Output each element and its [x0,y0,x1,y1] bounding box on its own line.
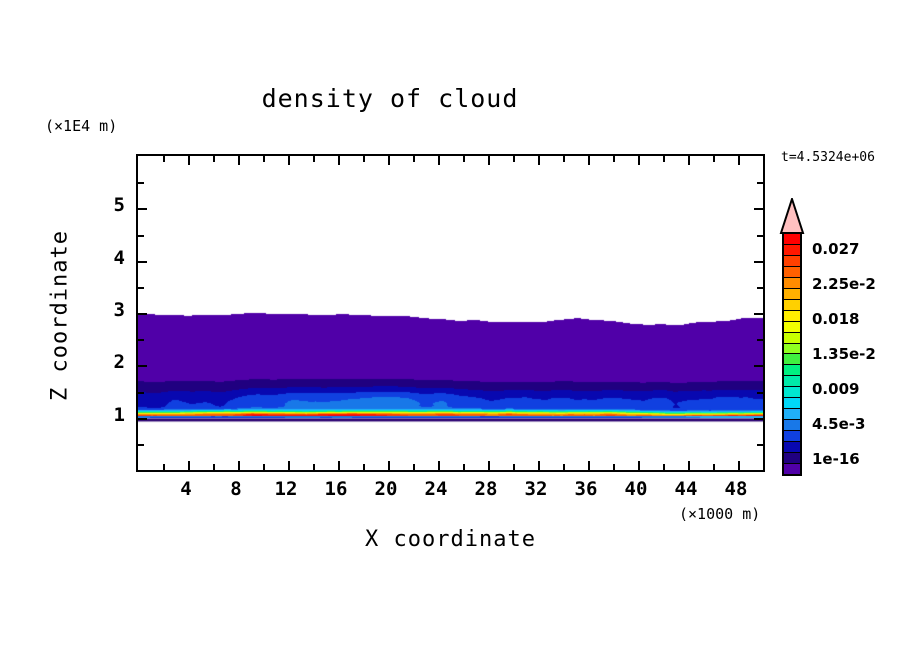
x-axis-minor-tick-top [413,156,415,162]
x-axis-minor-tick [413,464,415,470]
colorbar-segment [784,409,800,420]
x-axis-major-tick-top [288,156,290,165]
x-axis-major-tick [588,461,590,470]
x-axis-major-tick-top [688,156,690,165]
colorbar-segment [784,431,800,442]
y-tick-label: 4 [97,247,125,269]
y-axis-minor-tick-right [757,235,763,237]
x-tick-label: 16 [311,478,361,500]
colorbar-segment [784,267,800,278]
x-axis-minor-tick [163,464,165,470]
x-axis-minor-tick-top [713,156,715,162]
y-tick-label: 1 [97,404,125,426]
y-axis-major-tick-right [754,313,763,315]
y-axis-minor-tick-right [757,182,763,184]
y-axis-major-tick-right [754,365,763,367]
y-axis-major-tick [138,418,147,420]
colorbar-segment [784,234,800,245]
y-tick-label: 2 [97,351,125,373]
colorbar-segment [784,344,800,355]
colorbar-segment [784,300,800,311]
y-axis-minor-tick [138,444,144,446]
x-tick-label: 20 [361,478,411,500]
colorbar-segment [784,278,800,289]
x-axis-minor-tick [613,464,615,470]
x-tick-label: 32 [511,478,561,500]
x-axis-major-tick [288,461,290,470]
colorbar-tick-label: 4.5e-3 [812,415,865,433]
colorbar-segment [784,322,800,333]
x-axis-minor-tick-top [263,156,265,162]
colorbar-segment [784,365,800,376]
x-axis-major-tick [438,461,440,470]
x-axis-minor-tick-top [663,156,665,162]
y-axis-major-tick [138,261,147,263]
colorbar-segment [784,289,800,300]
x-axis-minor-tick [513,464,515,470]
y-axis-minor-tick-right [757,339,763,341]
plot-area [136,154,765,472]
y-axis-minor-tick [138,287,144,289]
colorbar-tick-label: 2.25e-2 [812,275,876,293]
colorbar-segment [784,311,800,322]
x-axis-minor-tick [763,464,765,470]
y-axis-unit-label: (×1E4 m) [45,117,117,135]
x-axis-major-tick [488,461,490,470]
x-axis-unit-label: (×1000 m) [679,505,760,523]
colorbar-segment [784,398,800,409]
x-axis-major-tick [188,461,190,470]
y-axis-minor-tick-right [757,392,763,394]
colorbar-tick-label: 0.009 [812,380,859,398]
x-axis-minor-tick-top [463,156,465,162]
x-axis-major-tick [388,461,390,470]
x-axis-major-tick-top [338,156,340,165]
colorbar-segment [784,464,800,474]
x-axis-major-tick-top [488,156,490,165]
y-axis-major-tick [138,313,147,315]
x-axis-title: X coordinate [136,527,765,552]
y-axis-minor-tick [138,339,144,341]
colorbar-segment [784,256,800,267]
x-axis-minor-tick-top [613,156,615,162]
x-axis-major-tick-top [638,156,640,165]
x-axis-major-tick-top [588,156,590,165]
x-axis-minor-tick [263,464,265,470]
x-axis-major-tick-top [238,156,240,165]
y-axis-major-tick-right [754,261,763,263]
page-title: density of cloud [0,84,780,113]
x-axis-minor-tick [363,464,365,470]
time-annotation: t=4.5324e+06 [781,150,875,165]
x-tick-label: 28 [461,478,511,500]
contour-field [138,156,763,470]
y-axis-major-tick [138,208,147,210]
x-axis-minor-tick [563,464,565,470]
y-tick-label: 3 [97,299,125,321]
x-axis-major-tick-top [538,156,540,165]
x-axis-minor-tick [213,464,215,470]
y-axis-minor-tick [138,392,144,394]
x-axis-minor-tick-top [363,156,365,162]
colorbar-tick-label: 0.027 [812,240,859,258]
colorbar-tick-label: 0.018 [812,310,859,328]
colorbar-tick-label: 1e-16 [812,450,860,468]
colorbar-segment [784,453,800,464]
y-axis-major-tick [138,365,147,367]
x-tick-label: 36 [561,478,611,500]
x-tick-label: 24 [411,478,461,500]
colorbar-segment [784,354,800,365]
x-axis-major-tick-top [438,156,440,165]
x-axis-minor-tick [463,464,465,470]
colorbar-segment [784,387,800,398]
colorbar-gradient [782,232,802,476]
x-axis-minor-tick-top [213,156,215,162]
x-axis-minor-tick-top [513,156,515,162]
y-axis-minor-tick [138,182,144,184]
x-axis-minor-tick-top [163,156,165,162]
x-axis-major-tick [738,461,740,470]
x-axis-minor-tick [663,464,665,470]
x-tick-label: 40 [611,478,661,500]
x-tick-label: 44 [661,478,711,500]
x-tick-label: 8 [211,478,261,500]
x-axis-major-tick [688,461,690,470]
y-axis-major-tick-right [754,418,763,420]
x-axis-major-tick-top [738,156,740,165]
x-axis-major-tick [238,461,240,470]
colorbar-segment [784,333,800,344]
x-axis-major-tick [538,461,540,470]
x-axis-major-tick [638,461,640,470]
colorbar-tick-label: 1.35e-2 [812,345,876,363]
x-axis-minor-tick [313,464,315,470]
colorbar-segment [784,376,800,387]
y-axis-major-tick-right [754,208,763,210]
x-axis-minor-tick-top [763,156,765,162]
x-axis-major-tick-top [188,156,190,165]
figure-root: density of cloud (×1E4 m) (×1000 m) t=4.… [0,0,904,654]
y-axis-minor-tick [138,235,144,237]
colorbar-segment [784,245,800,256]
x-tick-label: 4 [161,478,211,500]
y-axis-title: Z coordinate [48,216,73,416]
x-axis-minor-tick [713,464,715,470]
y-axis-minor-tick-right [757,444,763,446]
x-axis-major-tick-top [388,156,390,165]
colorbar-segment [784,442,800,453]
x-axis-minor-tick-top [313,156,315,162]
x-tick-label: 12 [261,478,311,500]
colorbar-segment [784,420,800,431]
colorbar-arrow-cap-icon [779,198,805,234]
x-tick-label: 48 [711,478,761,500]
x-axis-minor-tick-top [563,156,565,162]
x-axis-major-tick [338,461,340,470]
y-tick-label: 5 [97,194,125,216]
y-axis-minor-tick-right [757,287,763,289]
